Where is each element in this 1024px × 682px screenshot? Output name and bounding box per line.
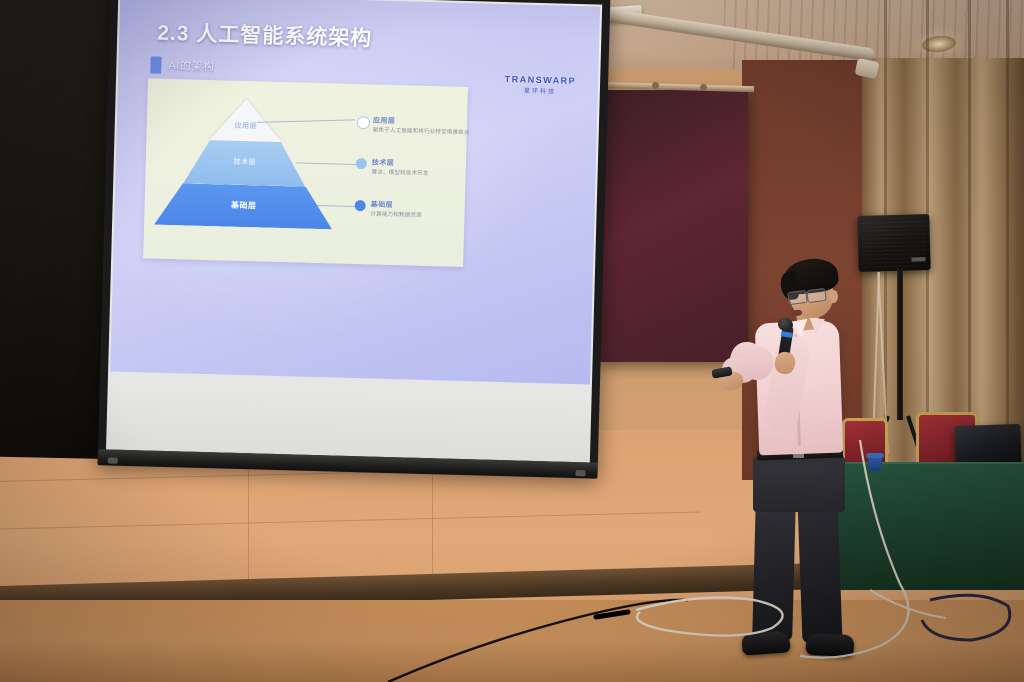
annotation-dot-icon xyxy=(357,116,370,129)
panel-rail-clip xyxy=(652,82,659,89)
brand-logo: TRANSWARP 星环科技 xyxy=(504,74,576,96)
annotation-dot-icon xyxy=(356,158,367,169)
annotation-heading: 技术层 xyxy=(372,157,394,168)
speaker-badge xyxy=(911,257,925,261)
cup-lid xyxy=(866,453,884,458)
presenter-shoe-right xyxy=(805,633,854,657)
cup[interactable] xyxy=(868,456,882,471)
drape-fold xyxy=(1006,0,1009,440)
presenter-leg-left xyxy=(752,500,796,641)
annotation-heading: 基础层 xyxy=(371,199,393,210)
maroon-wall-panel xyxy=(598,90,748,362)
screen-bar-knob xyxy=(108,457,118,463)
slide-subtitle: AI的架构 xyxy=(168,57,214,74)
presenter-ear xyxy=(829,290,838,303)
brand-logo-secondary: 星环科技 xyxy=(504,85,576,96)
slide-content-card: 应用层 技术层 基础层 应用层 聚焦于人工智能和将行业特定场景结 xyxy=(143,78,468,267)
annotation-detail: 计算能力和数据资源 xyxy=(370,209,422,218)
glasses-bridge xyxy=(804,293,808,294)
floor-carpet xyxy=(0,600,1024,682)
screen-frame: 2.3 人工智能系统架构 AI的架构 TRANSWARP 星环科技 应用层 技术… xyxy=(98,0,611,477)
annotation-heading: 应用层 xyxy=(373,115,395,126)
projected-slide: 2.3 人工智能系统架构 AI的架构 TRANSWARP 星环科技 应用层 技术… xyxy=(110,0,600,384)
panel-rail-clip xyxy=(700,84,707,91)
drape-fold xyxy=(968,0,971,440)
slide-title: 2.3 人工智能系统架构 xyxy=(157,17,373,53)
screen-bar-knob xyxy=(575,470,585,476)
glasses-lens-right xyxy=(806,288,826,303)
annotation-detail: 算法、模型和技术开发 xyxy=(372,167,429,177)
annotation-dot-icon xyxy=(355,200,366,211)
presenter-shoe-left xyxy=(741,630,790,655)
draped-table xyxy=(836,464,1024,590)
projection-screen[interactable]: 2.3 人工智能系统架构 AI的架构 TRANSWARP 星环科技 应用层 技术… xyxy=(98,0,611,477)
presentation-room-photo: ThreeHara 2.3 人工智能系统架构 AI的架构 TRANSWARP 星… xyxy=(0,0,1024,682)
subtitle-chip-icon xyxy=(150,56,161,73)
annotation-detail: 聚焦于人工智能和将行业特定场景结合 xyxy=(373,125,470,136)
pa-speaker xyxy=(857,214,930,272)
brand-logo-primary: TRANSWARP xyxy=(505,74,577,86)
presenter-leg-right xyxy=(798,499,843,642)
speaker-stand-pole xyxy=(897,268,903,420)
presenter-trousers xyxy=(753,456,845,512)
